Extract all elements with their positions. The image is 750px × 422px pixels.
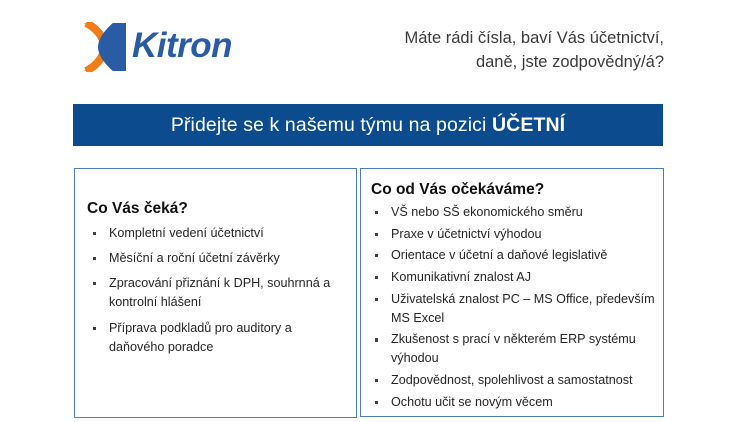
job-posting-slide: Kitron Máte rádi čísla, baví Vás účetnic…: [0, 0, 750, 422]
tagline: Máte rádi čísla, baví Vás účetnictví, da…: [304, 27, 664, 75]
list-item: Zodpovědnost, spolehlivost a samostatnos…: [361, 371, 663, 393]
tagline-line-1: Máte rádi čísla, baví Vás účetnictví,: [304, 27, 664, 51]
bullet-list-left: Kompletní vedení účetnictví Měsíční a ro…: [75, 224, 356, 363]
bullet-list-right: VŠ nebo SŠ ekonomického směru Praxe v úč…: [361, 203, 663, 414]
kitron-logo: Kitron: [82, 22, 232, 72]
column-what-we-expect: Co od Vás očekáváme? VŠ nebo SŠ ekonomic…: [360, 168, 664, 417]
banner-prefix: Přidejte se k našemu týmu na pozici: [171, 114, 492, 136]
column-what-awaits-you: Co Vás čeká? Kompletní vedení účetnictví…: [74, 168, 357, 418]
list-item: Měsíční a roční účetní závěrky: [75, 249, 356, 274]
list-item: Zkušenost s prací v některém ERP systému…: [361, 330, 663, 371]
list-item: VŠ nebo SŠ ekonomického směru: [361, 203, 663, 225]
column-title-right: Co od Vás očekáváme?: [361, 169, 663, 203]
list-item: Praxe v účetnictví výhodou: [361, 225, 663, 247]
tagline-line-2: daně, jste zodpovědný/á?: [304, 51, 664, 75]
list-item: Zpracování přiznání k DPH, souhrnná a ko…: [75, 274, 356, 318]
column-title-left: Co Vás čeká?: [75, 169, 356, 224]
kitron-wordmark: Kitron: [132, 28, 232, 67]
position-banner-text: Přidejte se k našemu týmu na pozici ÚČET…: [171, 114, 565, 137]
list-item: Orientace v účetní a daňové legislativě: [361, 246, 663, 268]
list-item: Ochotu učit se novým věcem: [361, 393, 663, 415]
list-item: Komunikativní znalost AJ: [361, 268, 663, 290]
position-name: ÚČETNÍ: [492, 114, 565, 136]
list-item: Uživatelská znalost PC – MS Office, před…: [361, 290, 663, 331]
position-banner: Přidejte se k našemu týmu na pozici ÚČET…: [73, 104, 663, 146]
slide-header: Kitron Máte rádi čísla, baví Vás účetnic…: [0, 0, 750, 100]
list-item: Kompletní vedení účetnictví: [75, 224, 356, 249]
list-item: Příprava podkladů pro auditory a daňovéh…: [75, 319, 356, 363]
kitron-chevron-logo-icon: [82, 22, 126, 72]
